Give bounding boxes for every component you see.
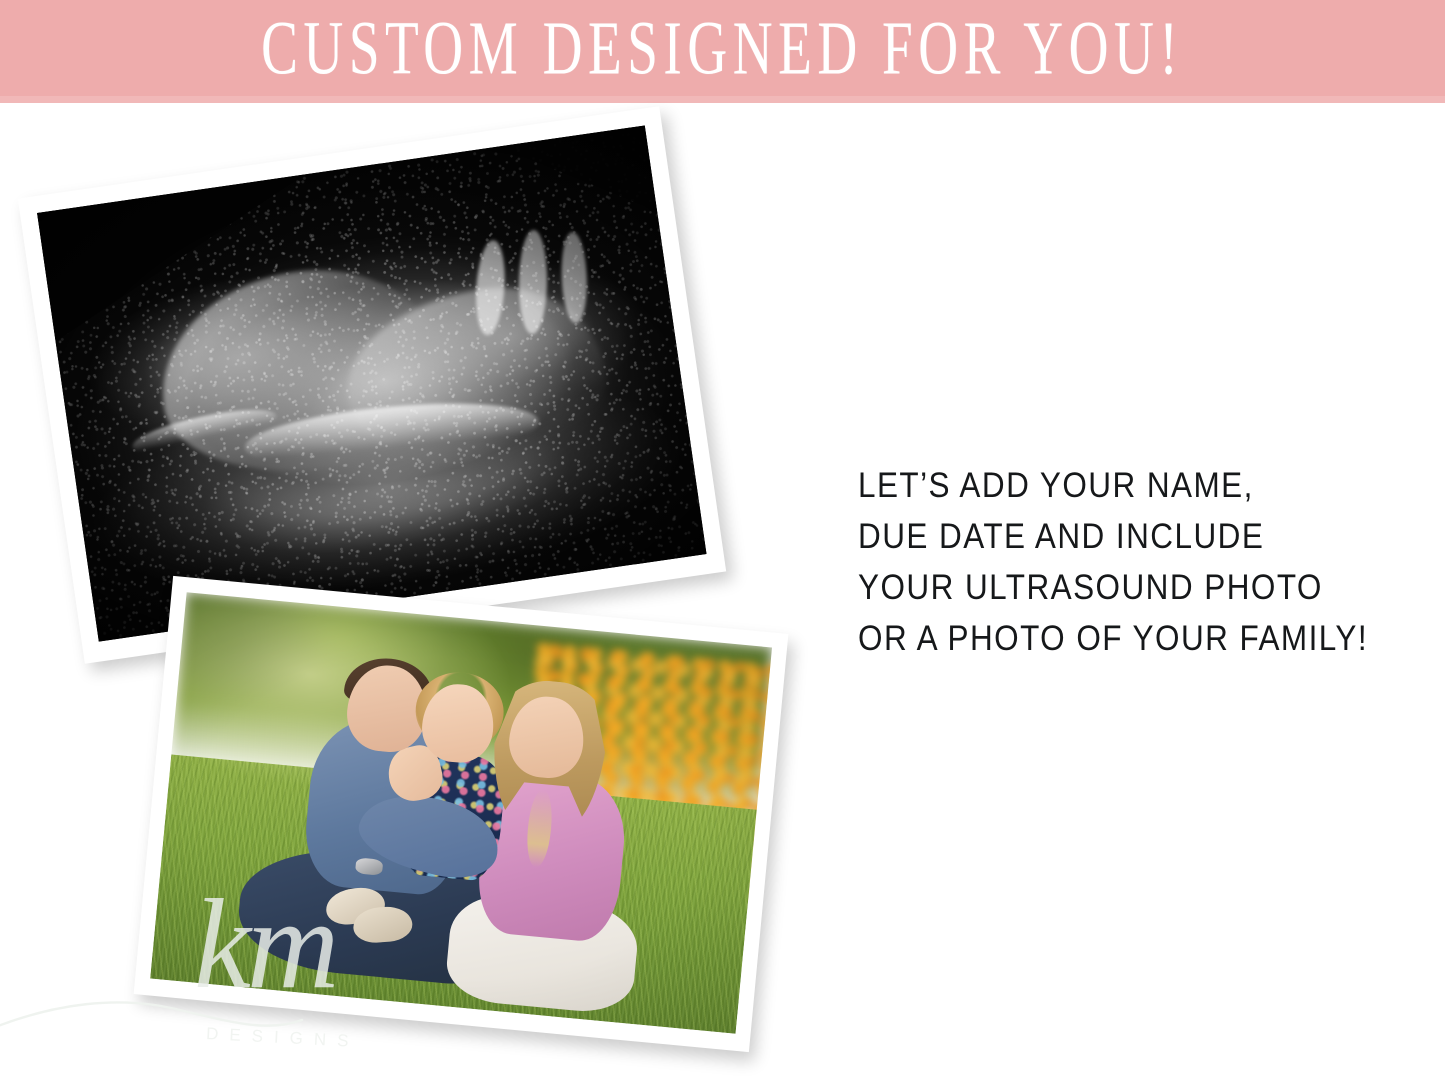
message-line-1: LET’S ADD YOUR NAME, <box>858 460 1362 511</box>
ultrasound-vignette <box>37 125 706 641</box>
family-image <box>150 592 772 1034</box>
message-line-4: OR A PHOTO OF YOUR FAMILY! <box>858 613 1362 664</box>
message-line-3: YOUR ULTRASOUND PHOTO <box>858 562 1362 613</box>
ultrasound-image <box>37 125 706 641</box>
header-banner-underline <box>0 96 1445 103</box>
message-block: LET’S ADD YOUR NAME, DUE DATE AND INCLUD… <box>858 460 1418 664</box>
ultrasound-photo-frame[interactable] <box>18 106 726 664</box>
page-title: CUSTOM DESIGNED FOR YOU! <box>261 8 1183 87</box>
family-photo-frame[interactable] <box>134 576 789 1052</box>
photo-vignette <box>150 592 772 1034</box>
message-line-2: DUE DATE AND INCLUDE <box>858 511 1362 562</box>
header-banner: CUSTOM DESIGNED FOR YOU! <box>0 0 1445 96</box>
watermark-subtitle: DESIGNS <box>206 1024 360 1052</box>
